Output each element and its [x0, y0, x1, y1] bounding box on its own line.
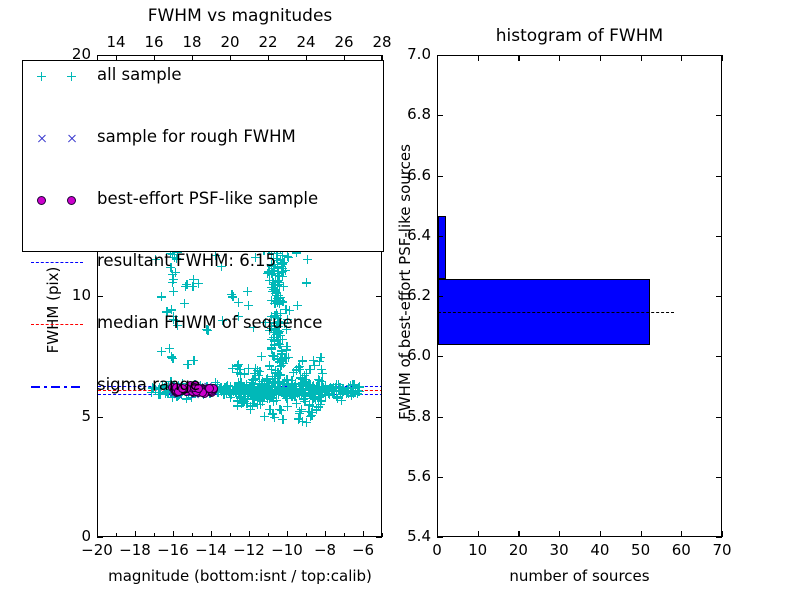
left-xtick-minor	[306, 55, 307, 59]
scatter-point-all	[169, 287, 178, 296]
left-xtick-label-bottom: −12	[233, 541, 265, 559]
right-ytick	[716, 537, 722, 538]
right-ytick-label: 6.4	[389, 226, 431, 244]
left-ytick	[97, 296, 103, 297]
left-ytick-label: 5	[57, 407, 91, 425]
left-xtick-bottom	[173, 531, 174, 537]
scatter-point-all	[257, 352, 266, 361]
left-xtick-label-bottom: −6	[347, 541, 379, 559]
legend-label: sample for rough FWHM	[97, 127, 296, 146]
right-ytick	[437, 417, 443, 418]
legend-marker-plus	[23, 61, 97, 92]
scatter-point-all	[157, 347, 166, 356]
scatter-point-all	[167, 352, 176, 361]
plot-legend: all samplesample for rough FWHMbest-effo…	[22, 60, 384, 252]
right-xtick-label: 10	[462, 541, 494, 559]
right-ytick-label: 7.0	[389, 45, 431, 63]
left-xtick-label-top: 16	[138, 33, 170, 51]
legend-plus-icon	[37, 72, 46, 81]
scatter-point-all	[267, 283, 276, 292]
left-xtick-label-top: 18	[176, 33, 208, 51]
left-xtick-label-top: 26	[328, 33, 360, 51]
scatter-point-all	[277, 406, 286, 415]
left-xtick-bottom	[325, 531, 326, 537]
legend-marker-ex	[23, 123, 97, 154]
left-xtick-label-bottom: −10	[271, 541, 303, 559]
legend-row: resultant FWHM: 6.15	[23, 247, 383, 278]
scatter-point-all	[276, 362, 285, 371]
right-xtick	[641, 55, 642, 61]
left-xtick-minor	[306, 533, 307, 537]
legend-label: sigma range	[97, 375, 200, 394]
scatter-point-all	[270, 299, 279, 308]
left-xtick-label-top: 20	[214, 33, 246, 51]
right-ytick-label: 5.6	[389, 467, 431, 485]
right-ytick	[716, 236, 722, 237]
right-ytick-label: 5.4	[389, 527, 431, 545]
left-xtick-label-bottom: −14	[195, 541, 227, 559]
left-ytick	[376, 55, 382, 56]
histogram-bar	[438, 216, 446, 279]
legend-ex-icon	[67, 134, 76, 143]
right-xtick	[518, 531, 519, 537]
histogram-bar-layer	[438, 56, 721, 536]
scatter-point-all	[157, 292, 166, 301]
legend-marker-dot	[23, 185, 97, 216]
right-ytick	[716, 55, 722, 56]
left-xtick-label-top: 22	[252, 33, 284, 51]
right-ytick-label: 6.0	[389, 346, 431, 364]
left-xtick-bottom	[211, 531, 212, 537]
right-ytick-label: 6.8	[389, 105, 431, 123]
scatter-point-all	[302, 278, 311, 287]
left-xtick-bottom	[249, 531, 250, 537]
right-ytick	[716, 115, 722, 116]
right-xtick	[641, 531, 642, 537]
left-xtick-label-bottom: −18	[119, 541, 151, 559]
right-xtick	[559, 531, 560, 537]
legend-label: median FHWM of sequence	[97, 313, 322, 332]
right-ytick	[716, 176, 722, 177]
left-ytick	[97, 417, 103, 418]
right-xtick-label: 20	[502, 541, 534, 559]
right-ytick-label: 6.2	[389, 286, 431, 304]
left-ytick	[376, 417, 382, 418]
right-xtick	[722, 531, 723, 537]
right-ytick	[716, 296, 722, 297]
legend-row: all sample	[23, 61, 383, 92]
legend-line-icon	[31, 262, 83, 263]
left-xtick-bottom	[287, 531, 288, 537]
legend-plus-icon	[67, 72, 76, 81]
figure-canvas: FWHM vs magnitudes magnitude (bottom:isn…	[0, 0, 800, 600]
right-xtick	[478, 55, 479, 61]
left-xtick-minor	[192, 533, 193, 537]
legend-label: resultant FWHM: 6.15	[97, 251, 276, 270]
left-xtick-minor	[344, 533, 345, 537]
left-xtick-minor	[154, 55, 155, 59]
scatter-point-all	[243, 287, 252, 296]
legend-row: median FHWM of sequence	[23, 309, 383, 340]
scatter-point-all	[189, 356, 198, 365]
legend-row: sigma range	[23, 371, 383, 402]
right-xtick	[722, 55, 723, 61]
scatter-point-all	[307, 411, 316, 420]
left-ytick-label: 10	[57, 286, 91, 304]
right-ytick	[437, 537, 443, 538]
left-xtick-minor	[382, 533, 383, 537]
right-xtick	[681, 531, 682, 537]
right-ytick	[716, 477, 722, 478]
left-xtick-minor	[116, 55, 117, 59]
left-ytick	[376, 537, 382, 538]
right-ytick	[437, 356, 443, 357]
scatter-point-all	[295, 409, 304, 418]
right-xtick-label: 60	[665, 541, 697, 559]
left-xtick-label-bottom: −8	[309, 541, 341, 559]
right-ytick	[437, 296, 443, 297]
left-xtick-minor	[268, 55, 269, 59]
legend-line-icon	[31, 386, 83, 388]
legend-row: best-effort PSF-like sample	[23, 185, 383, 216]
legend-marker-dashed-line	[23, 309, 97, 340]
legend-label: best-effort PSF-like sample	[97, 189, 318, 208]
left-xtick-label-bottom: −16	[157, 541, 189, 559]
scatter-point-all	[180, 299, 189, 308]
scatter-point-all	[279, 282, 288, 291]
left-ytick	[97, 537, 103, 538]
scatter-point-all	[298, 356, 307, 365]
legend-label: all sample	[97, 65, 182, 84]
right-ytick	[437, 176, 443, 177]
right-xaxis-label: number of sources	[437, 567, 722, 585]
left-xtick-label-top: 14	[100, 33, 132, 51]
right-xtick-label: 40	[584, 541, 616, 559]
legend-row: sample for rough FWHM	[23, 123, 383, 154]
right-xtick	[600, 531, 601, 537]
scatter-point-all	[309, 356, 318, 365]
left-xtick-minor	[192, 55, 193, 59]
scatter-point-all	[282, 342, 291, 351]
right-xtick	[478, 531, 479, 537]
left-xtick-minor	[382, 55, 383, 59]
left-panel-title: FWHM vs magnitudes	[90, 6, 390, 26]
legend-marker-dashdot-line	[23, 371, 97, 402]
right-ytick	[437, 55, 443, 56]
scatter-point-all	[278, 415, 287, 424]
right-panel-title: histogram of FWHM	[437, 26, 722, 46]
legend-dot-icon	[37, 196, 46, 205]
legend-marker-dashed-line	[23, 247, 97, 278]
left-ytick	[97, 55, 103, 56]
legend-dot-icon	[67, 196, 76, 205]
right-ytick	[437, 477, 443, 478]
right-xtick-label: 50	[625, 541, 657, 559]
right-ytick	[437, 115, 443, 116]
right-ytick-label: 5.8	[389, 407, 431, 425]
right-xtick-label: 30	[543, 541, 575, 559]
left-ytick-label: 0	[57, 527, 91, 545]
left-xtick-minor	[154, 533, 155, 537]
left-xtick-minor	[230, 533, 231, 537]
left-xtick-minor	[116, 533, 117, 537]
legend-line-icon	[31, 324, 83, 325]
left-ytick	[376, 296, 382, 297]
histogram-axes	[437, 55, 722, 537]
left-xtick-label-top: 24	[290, 33, 322, 51]
right-xtick-label: 70	[706, 541, 738, 559]
left-xtick-bottom	[363, 531, 364, 537]
right-xtick	[600, 55, 601, 61]
left-xtick-minor	[268, 533, 269, 537]
scatter-point-all	[234, 298, 243, 307]
left-xaxis-label: magnitude (bottom:isnt / top:calib)	[80, 567, 400, 585]
scatter-point-all	[188, 282, 197, 291]
right-ytick	[716, 356, 722, 357]
scatter-point-all	[268, 409, 277, 418]
left-xtick-bottom	[135, 531, 136, 537]
legend-ex-icon	[37, 134, 46, 143]
left-xtick-minor	[230, 55, 231, 59]
scatter-point-all	[260, 412, 269, 421]
right-xtick	[681, 55, 682, 61]
scatter-point-all	[269, 352, 278, 361]
histogram-hline	[438, 312, 674, 313]
right-xtick	[518, 55, 519, 61]
right-ytick-label: 6.6	[389, 166, 431, 184]
left-xtick-minor	[344, 55, 345, 59]
right-ytick	[716, 417, 722, 418]
right-xtick	[559, 55, 560, 61]
right-ytick	[437, 236, 443, 237]
